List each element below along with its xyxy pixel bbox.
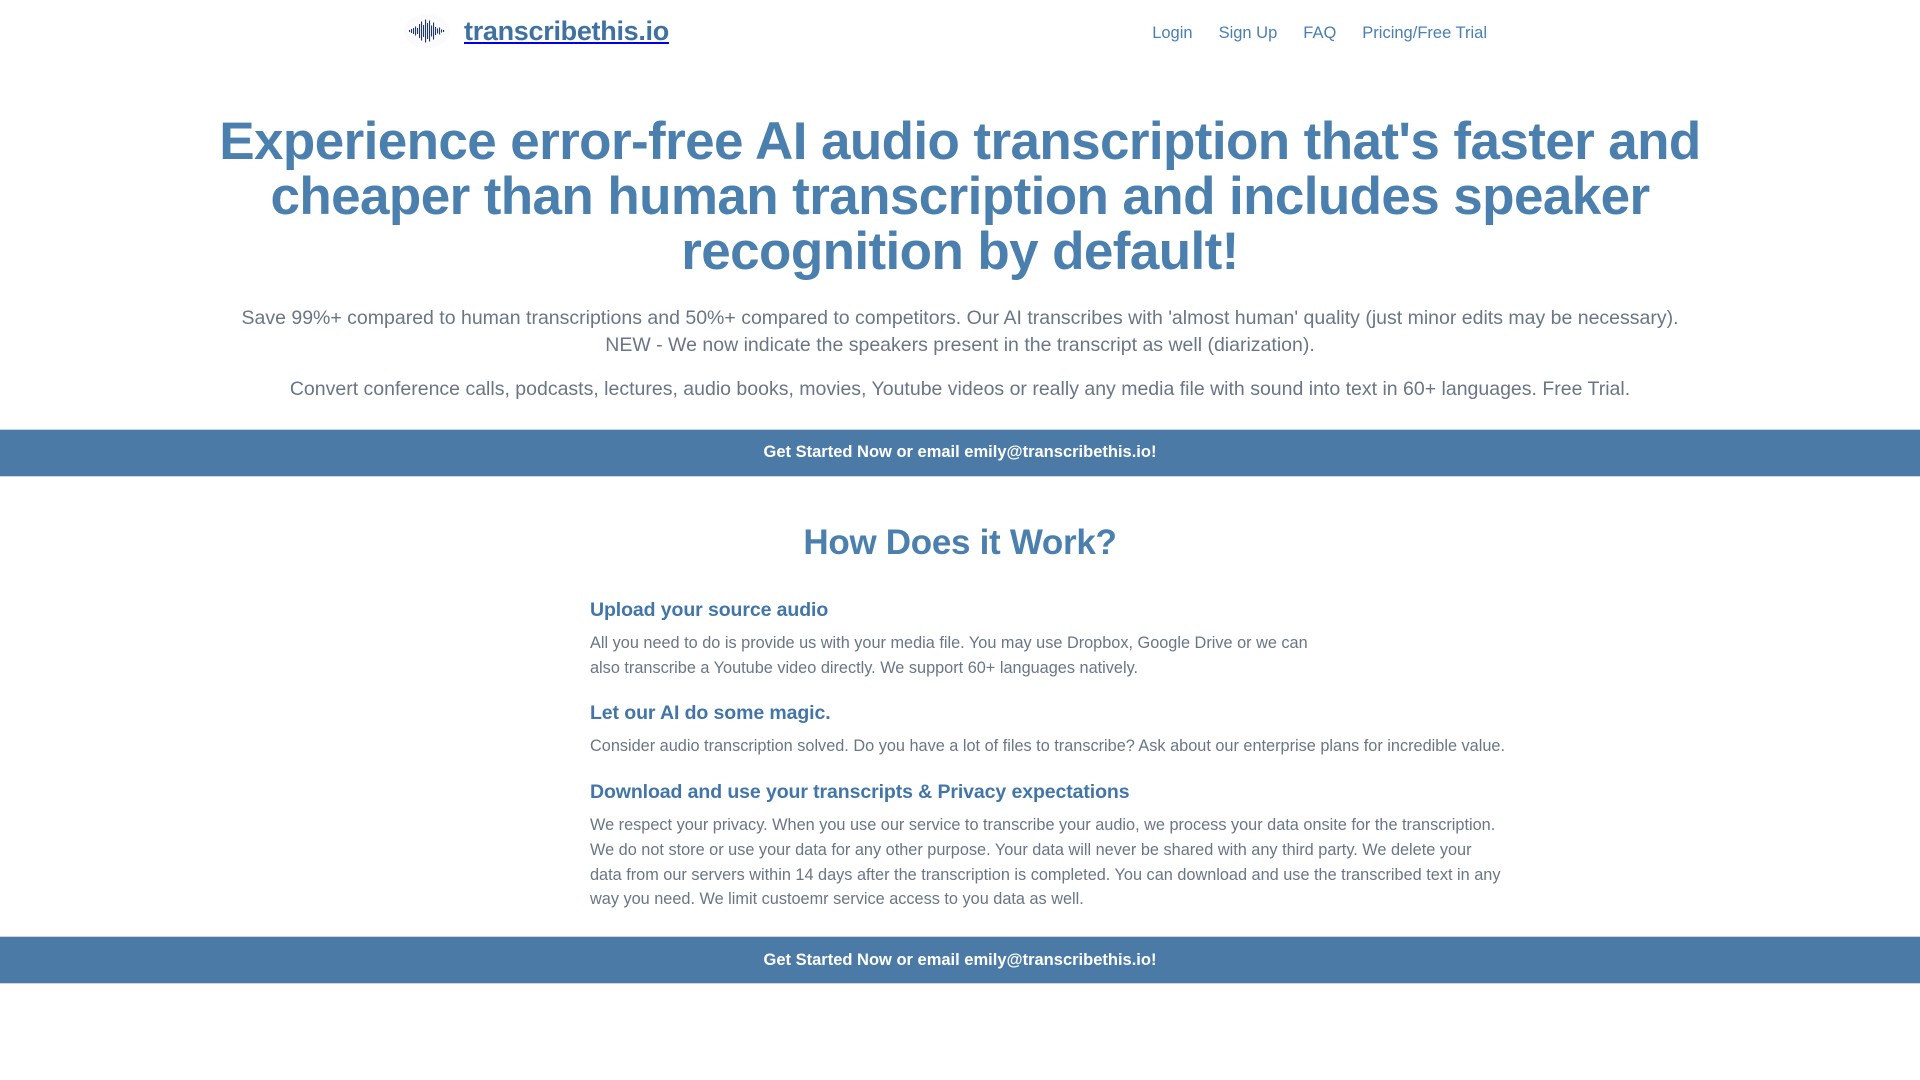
hero-subtitle-line-1: Save 99%+ compared to human transcriptio… <box>230 305 1690 358</box>
step-title-download-privacy: Download and use your transcripts & Priv… <box>590 781 1620 804</box>
site-header: transcribethis.io Login Sign Up FAQ Pric… <box>0 0 1920 72</box>
cta-banner-bottom-link[interactable]: Get Started Now or email emily@transcrib… <box>764 951 1157 970</box>
step-item: Download and use your transcripts & Priv… <box>590 781 1620 912</box>
step-body-upload: All you need to do is provide us with yo… <box>590 631 1338 681</box>
cta-banner-top-link[interactable]: Get Started Now or email emily@transcrib… <box>764 443 1157 462</box>
how-it-works-section: How Does it Work? Upload your source aud… <box>0 477 1920 912</box>
how-it-works-title: How Does it Work? <box>0 523 1920 563</box>
hero-subtitle: Save 99%+ compared to human transcriptio… <box>0 305 1920 403</box>
cta-banner-top[interactable]: Get Started Now or email emily@transcrib… <box>0 429 1920 477</box>
nav-item-pricing-free-trial[interactable]: Pricing/Free Trial <box>1349 24 1500 43</box>
brand-logo-link[interactable]: transcribethis.io <box>404 14 669 48</box>
step-title-upload: Upload your source audio <box>590 599 1620 622</box>
step-body-download-privacy: We respect your privacy. When you use ou… <box>590 813 1505 912</box>
nav-item-faq[interactable]: FAQ <box>1290 24 1349 43</box>
hero-subtitle-line-2: Convert conference calls, podcasts, lect… <box>230 376 1690 403</box>
cta-banner-bottom[interactable]: Get Started Now or email emily@transcrib… <box>0 936 1920 984</box>
nav-item-login[interactable]: Login <box>1139 24 1205 43</box>
main-nav: Login Sign Up FAQ Pricing/Free Trial <box>1139 24 1500 43</box>
step-item: Upload your source audio All you need to… <box>590 599 1620 681</box>
hero-section: Experience error-free AI audio transcrip… <box>0 72 1920 403</box>
audio-waveform-icon <box>404 14 450 48</box>
nav-item-sign-up[interactable]: Sign Up <box>1206 24 1291 43</box>
hero-title: Experience error-free AI audio transcrip… <box>180 114 1740 279</box>
step-title-ai-magic: Let our AI do some magic. <box>590 702 1620 725</box>
step-body-ai-magic: Consider audio transcription solved. Do … <box>590 734 1505 759</box>
brand-name: transcribethis.io <box>464 16 669 47</box>
how-it-works-steps: Upload your source audio All you need to… <box>0 599 1920 912</box>
step-item: Let our AI do some magic. Consider audio… <box>590 702 1620 759</box>
